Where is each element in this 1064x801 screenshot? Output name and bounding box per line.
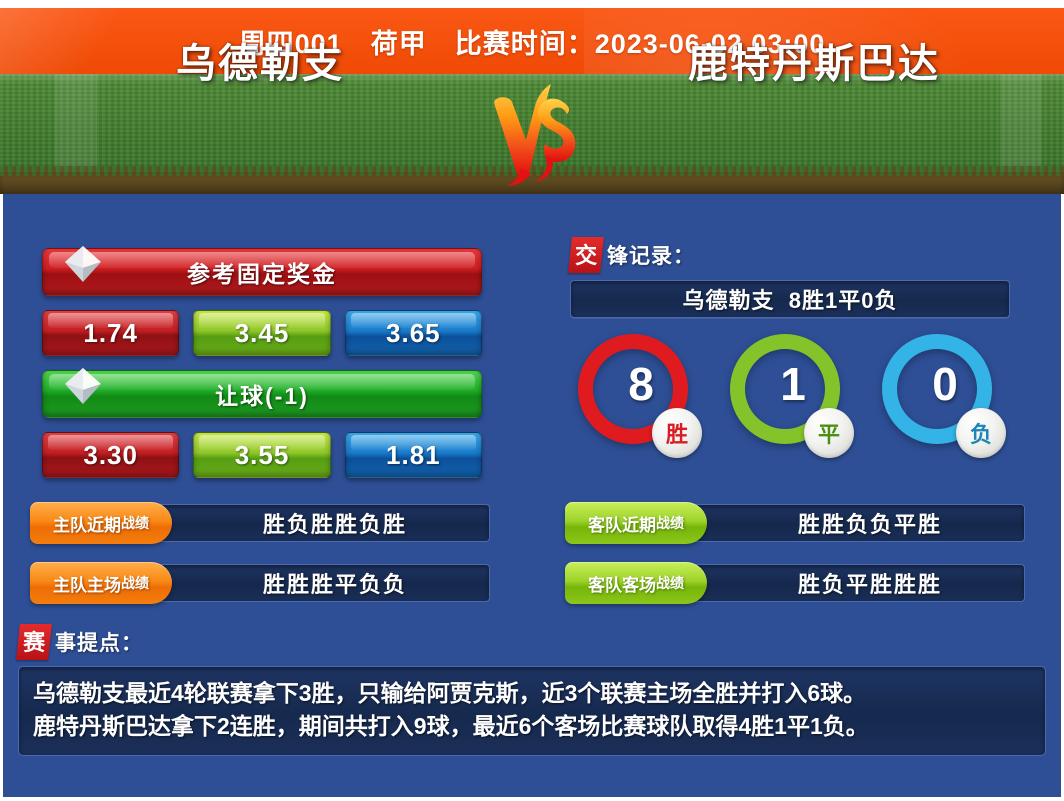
fixed-odds-away-value: 3.65 xyxy=(386,318,441,349)
away-recent-label-main: 客队近期 xyxy=(588,511,656,536)
diamond-gem-icon xyxy=(61,242,105,286)
notes-line-1: 乌德勒支最近4轮联赛拿下3胜，只输给阿贾克斯，近3个联赛主场全胜并打入6球。 xyxy=(33,677,1031,710)
match-preview-page: 周四001 荷甲 比赛时间：2023-06-02 03:00 乌德勒支 鹿特丹斯… xyxy=(0,0,1064,801)
ring-draw-badge: 平 xyxy=(804,408,854,458)
diamond-gem-icon xyxy=(61,364,105,408)
away-venue-track: 胜负平胜胜胜 xyxy=(675,564,1025,602)
away-recent-label-sub: 战绩 xyxy=(656,513,684,533)
away-venue-label-sub: 战绩 xyxy=(656,573,684,593)
h2h-ring-loss: 0 负 xyxy=(864,330,1014,490)
home-venue-label-main: 主队主场 xyxy=(53,571,121,596)
notes-heading-text: 事提点： xyxy=(55,627,143,657)
notes-heading: 赛 事提点： xyxy=(18,626,1046,658)
handicap-home-value: 3.30 xyxy=(83,440,138,471)
handicap-home-button[interactable]: 3.30 xyxy=(42,432,179,478)
left-white-edge xyxy=(0,194,3,801)
h2h-ring-draw: 1 平 xyxy=(712,330,862,490)
away-venue-label: 客队客场战绩 xyxy=(565,562,707,604)
handicap-draw-button[interactable]: 3.55 xyxy=(193,432,330,478)
home-venue-form-row: 胜胜胜平负负 主队主场战绩 xyxy=(30,562,490,604)
notes-tag-badge: 赛 xyxy=(16,624,52,660)
vs-icon xyxy=(485,82,585,190)
form-rows: 胜负胜胜负胜 主队近期战绩 胜胜胜平负负 主队主场战绩 胜胜负负平胜 客队近期战… xyxy=(0,502,1064,612)
ring-loss-badge: 负 xyxy=(956,408,1006,458)
home-recent-label-sub: 战绩 xyxy=(121,513,149,533)
home-recent-value: 胜负胜胜负胜 xyxy=(263,507,407,539)
h2h-tag-badge: 交 xyxy=(568,237,604,273)
handicap-title-bar: 让球(-1) xyxy=(42,370,482,418)
h2h-ring-win: 8 胜 xyxy=(560,330,710,490)
fixed-odds-row: 1.74 3.45 3.65 xyxy=(42,310,482,356)
notes-tag-text: 赛 xyxy=(23,625,45,657)
h2h-summary-text: 乌德勒支 8胜1平0负 xyxy=(683,283,898,315)
handicap-title: 让球(-1) xyxy=(215,377,309,411)
fixed-odds-home-button[interactable]: 1.74 xyxy=(42,310,179,356)
home-recent-label-main: 主队近期 xyxy=(53,511,121,536)
away-recent-form-row: 胜胜负负平胜 客队近期战绩 xyxy=(565,502,1025,544)
head-to-head-heading: 交 锋记录： xyxy=(570,240,1010,270)
h2h-ring-charts: 8 胜 1 平 0 负 xyxy=(560,330,1020,490)
fixed-odds-title: 参考固定奖金 xyxy=(187,255,337,289)
head-to-head-panel: 交 锋记录： 乌德勒支 8胜1平0负 xyxy=(570,240,1010,318)
home-venue-label-sub: 战绩 xyxy=(121,573,149,593)
home-recent-track: 胜负胜胜负胜 xyxy=(140,504,490,542)
bottom-white-strip xyxy=(0,797,1064,801)
away-team-name: 鹿特丹斯巴达 xyxy=(634,0,994,120)
h2h-tag-text: 交 xyxy=(575,238,597,270)
home-venue-label: 主队主场战绩 xyxy=(30,562,172,604)
handicap-away-button[interactable]: 1.81 xyxy=(345,432,482,478)
home-venue-value: 胜胜胜平负负 xyxy=(263,567,407,599)
away-recent-value: 胜胜负负平胜 xyxy=(798,507,942,539)
fixed-odds-away-button[interactable]: 3.65 xyxy=(345,310,482,356)
handicap-away-value: 1.81 xyxy=(386,440,441,471)
away-venue-value: 胜负平胜胜胜 xyxy=(798,567,942,599)
away-venue-label-main: 客队客场 xyxy=(588,571,656,596)
notes-box: 乌德勒支最近4轮联赛拿下3胜，只输给阿贾克斯，近3个联赛主场全胜并打入6球。 鹿… xyxy=(18,666,1046,756)
away-recent-track: 胜胜负负平胜 xyxy=(675,504,1025,542)
handicap-odds-row: 3.30 3.55 1.81 xyxy=(42,432,482,478)
home-team-name: 乌德勒支 xyxy=(95,0,425,120)
fixed-odds-title-bar: 参考固定奖金 xyxy=(42,248,482,296)
home-recent-form-row: 胜负胜胜负胜 主队近期战绩 xyxy=(30,502,490,544)
fixed-odds-draw-value: 3.45 xyxy=(235,318,290,349)
home-venue-track: 胜胜胜平负负 xyxy=(140,564,490,602)
handicap-draw-value: 3.55 xyxy=(235,440,290,471)
match-notes-panel: 赛 事提点： 乌德勒支最近4轮联赛拿下3胜，只输给阿贾克斯，近3个联赛主场全胜并… xyxy=(18,626,1046,756)
h2h-heading-text: 锋记录： xyxy=(607,240,695,270)
home-recent-label: 主队近期战绩 xyxy=(30,502,172,544)
h2h-summary-bar: 乌德勒支 8胜1平0负 xyxy=(570,280,1010,318)
away-venue-form-row: 胜负平胜胜胜 客队客场战绩 xyxy=(565,562,1025,604)
away-recent-label: 客队近期战绩 xyxy=(565,502,707,544)
fixed-odds-home-value: 1.74 xyxy=(83,318,138,349)
fixed-odds-draw-button[interactable]: 3.45 xyxy=(193,310,330,356)
notes-line-2: 鹿特丹斯巴达拿下2连胜，期间共打入9球，最近6个客场比赛球队取得4胜1平1负。 xyxy=(33,710,1031,743)
ring-win-badge: 胜 xyxy=(652,408,702,458)
odds-panel: 参考固定奖金 1.74 3.45 3.65 xyxy=(42,248,482,492)
